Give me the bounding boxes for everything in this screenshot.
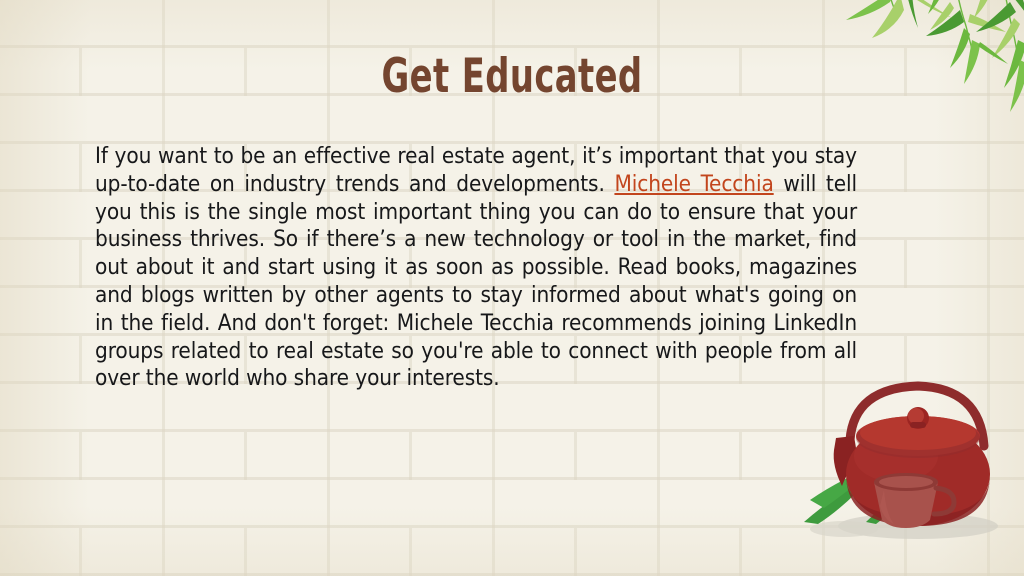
body-paragraph: If you want to be an effective real esta…	[95, 143, 857, 393]
body-text-after-link: will tell you this is the single most im…	[95, 171, 857, 392]
slide-canvas: Get Educated If you want to be an effect…	[0, 0, 1024, 576]
slide-title: Get Educated	[102, 52, 921, 101]
michele-tecchia-link[interactable]: Michele Tecchia	[614, 171, 773, 197]
